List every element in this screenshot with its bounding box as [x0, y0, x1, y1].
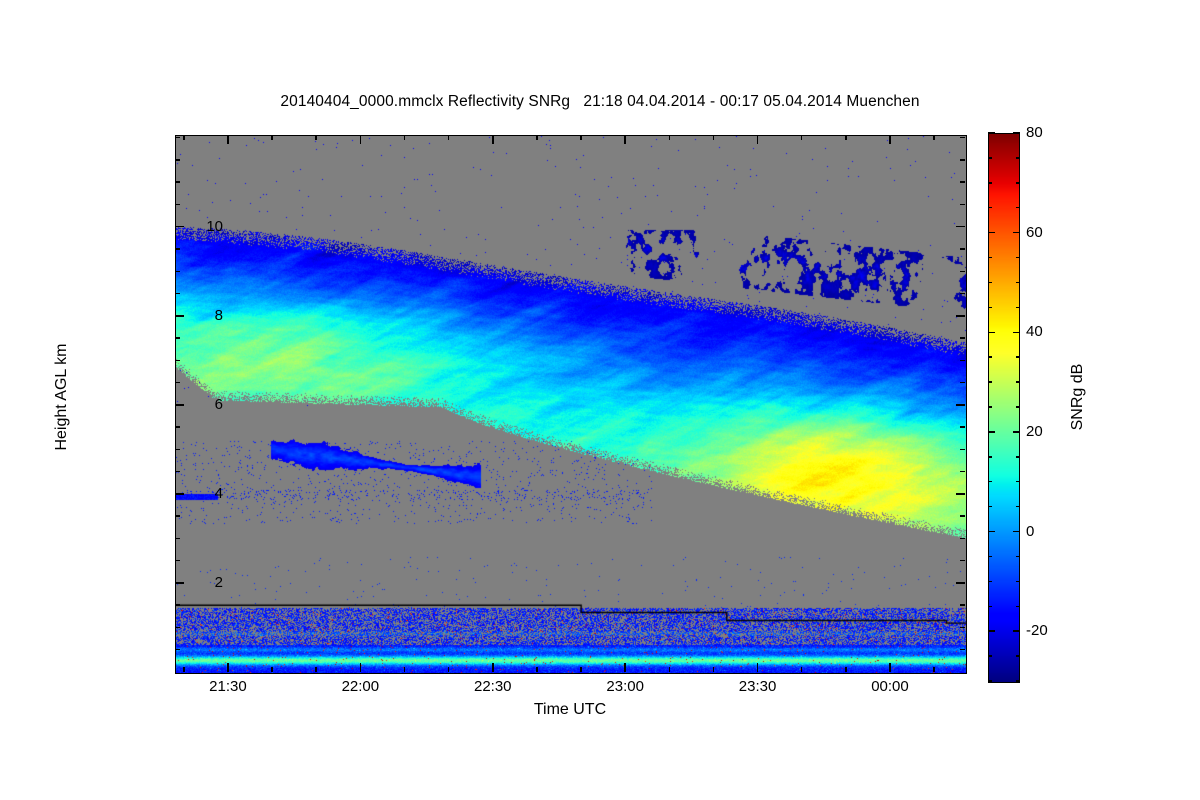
colorbar-tick-right: [1016, 381, 1020, 383]
x-tick-top: [536, 135, 538, 140]
y-tick: [175, 426, 180, 428]
x-tick-label: 00:00: [830, 679, 950, 694]
y-tick-right: [960, 248, 965, 250]
y-tick-right: [960, 360, 965, 362]
plot-axes-area: [175, 135, 967, 674]
y-tick: [175, 604, 180, 606]
x-tick-top: [183, 135, 185, 140]
x-tick: [271, 667, 273, 672]
colorbar-tick-right: [1016, 680, 1020, 682]
colorbar-tick: [988, 182, 992, 184]
y-tick: [175, 159, 180, 161]
colorbar-tick: [988, 406, 992, 408]
reflectivity-heatmap: [176, 136, 966, 673]
x-tick-top: [757, 135, 759, 144]
x-tick: [757, 663, 759, 672]
y-tick: [175, 515, 180, 517]
y-tick: [175, 649, 180, 651]
colorbar-tick-right: [1016, 456, 1020, 458]
colorbar-tick-label: 20: [1026, 424, 1043, 439]
colorbar-tick-right: [1013, 630, 1020, 632]
colorbar-tick: [988, 581, 992, 583]
y-tick-right: [956, 226, 965, 228]
y-tick-right: [960, 159, 965, 161]
y-tick-right: [960, 604, 965, 606]
y-tick-right: [960, 449, 965, 451]
y-tick-right: [960, 426, 965, 428]
x-tick-top: [360, 135, 362, 144]
colorbar-tick-right: [1013, 132, 1020, 134]
y-tick: [175, 226, 184, 228]
colorbar-tick: [988, 356, 992, 358]
colorbar-tick-right: [1016, 655, 1020, 657]
colorbar-tick: [988, 132, 995, 134]
y-tick: [175, 404, 184, 406]
colorbar-tick-right: [1016, 157, 1020, 159]
colorbar-tick-label: 40: [1026, 324, 1043, 339]
x-tick-top: [933, 135, 935, 140]
colorbar-tick-label: 80: [1026, 125, 1043, 140]
y-tick-right: [956, 582, 965, 584]
y-tick: [175, 627, 180, 629]
colorbar-tick-right: [1013, 232, 1020, 234]
colorbar-tick-right: [1016, 182, 1020, 184]
x-tick: [360, 663, 362, 672]
x-tick-top: [492, 135, 494, 144]
y-tick: [175, 204, 180, 206]
y-tick-label: 10: [206, 219, 223, 234]
x-tick-top: [315, 135, 317, 140]
y-tick-right: [956, 404, 965, 406]
colorbar-tick: [988, 332, 995, 334]
x-tick: [536, 667, 538, 672]
colorbar-tick-right: [1016, 356, 1020, 358]
x-tick-top: [404, 135, 406, 140]
colorbar-tick-right: [1016, 406, 1020, 408]
x-tick: [448, 667, 450, 672]
colorbar-tick: [988, 157, 992, 159]
x-tick-top: [801, 135, 803, 140]
y-tick-right: [960, 293, 965, 295]
colorbar-tick: [988, 282, 992, 284]
colorbar-title: SNRg dB: [1069, 297, 1087, 497]
y-tick: [175, 382, 180, 384]
colorbar-tick-right: [1016, 207, 1020, 209]
colorbar-tick: [988, 232, 995, 234]
y-tick-right: [960, 560, 965, 562]
colorbar-tick: [988, 606, 992, 608]
colorbar-tick-right: [1016, 556, 1020, 558]
colorbar-tick-label: -20: [1026, 623, 1048, 638]
y-tick: [175, 315, 184, 317]
y-tick-right: [956, 315, 965, 317]
y-tick-label: 4: [215, 486, 223, 501]
y-tick: [175, 582, 184, 584]
colorbar-tick: [988, 680, 992, 682]
x-tick-top: [845, 135, 847, 140]
x-tick-label: 23:30: [698, 679, 818, 694]
x-tick-top: [227, 135, 229, 144]
y-tick: [175, 538, 180, 540]
y-tick: [175, 137, 180, 139]
x-tick-top: [271, 135, 273, 140]
y-tick: [175, 293, 180, 295]
y-tick: [175, 560, 180, 562]
x-tick: [624, 663, 626, 672]
colorbar-tick-right: [1013, 531, 1020, 533]
y-tick-right: [960, 515, 965, 517]
x-tick-label: 22:30: [433, 679, 553, 694]
y-tick: [175, 493, 184, 495]
colorbar-tick-right: [1016, 506, 1020, 508]
x-tick: [713, 667, 715, 672]
colorbar-tick: [988, 207, 992, 209]
x-tick-label: 22:00: [300, 679, 420, 694]
page-title: 20140404_0000.mmclx Reflectivity SNRg 21…: [0, 93, 1200, 111]
colorbar-tick: [988, 506, 992, 508]
x-tick: [404, 667, 406, 672]
colorbar-tick: [988, 431, 995, 433]
y-tick-right: [960, 271, 965, 273]
x-tick: [933, 667, 935, 672]
colorbar-tick-label: 0: [1026, 524, 1034, 539]
x-tick-top: [713, 135, 715, 140]
x-tick-top: [889, 135, 891, 144]
y-tick: [175, 471, 180, 473]
colorbar-tick-right: [1016, 606, 1020, 608]
colorbar-gradient: [989, 134, 1019, 682]
colorbar-tick: [988, 257, 992, 259]
colorbar-tick: [988, 556, 992, 558]
y-tick-right: [960, 471, 965, 473]
x-tick: [580, 667, 582, 672]
x-tick: [845, 667, 847, 672]
x-tick-top: [669, 135, 671, 140]
colorbar-tick: [988, 481, 992, 483]
colorbar-tick-label: 60: [1026, 225, 1043, 240]
y-tick-right: [956, 493, 965, 495]
colorbar: [988, 133, 1020, 683]
y-tick-right: [960, 204, 965, 206]
colorbar-tick-right: [1016, 481, 1020, 483]
y-tick-label: 8: [215, 308, 223, 323]
colorbar-tick: [988, 456, 992, 458]
y-tick: [175, 248, 180, 250]
colorbar-tick-right: [1016, 282, 1020, 284]
y-tick-right: [960, 627, 965, 629]
x-tick: [801, 667, 803, 672]
y-tick-right: [960, 382, 965, 384]
radar-time-height-figure: 20140404_0000.mmclx Reflectivity SNRg 21…: [0, 0, 1200, 800]
colorbar-tick-right: [1016, 307, 1020, 309]
y-tick: [175, 337, 180, 339]
x-tick: [492, 663, 494, 672]
x-tick-top: [624, 135, 626, 144]
x-tick: [889, 663, 891, 672]
colorbar-tick-right: [1013, 332, 1020, 334]
y-tick: [175, 181, 180, 183]
x-tick: [669, 667, 671, 672]
y-tick-right: [960, 137, 965, 139]
x-tick-label: 23:00: [565, 679, 685, 694]
y-tick-right: [960, 337, 965, 339]
colorbar-tick-right: [1013, 431, 1020, 433]
y-tick: [175, 449, 180, 451]
colorbar-tick: [988, 531, 995, 533]
x-tick: [315, 667, 317, 672]
x-axis-title: Time UTC: [175, 701, 965, 719]
colorbar-tick-right: [1016, 581, 1020, 583]
y-tick-right: [960, 538, 965, 540]
colorbar-tick: [988, 381, 992, 383]
y-tick-right: [960, 181, 965, 183]
x-tick: [227, 663, 229, 672]
y-tick-label: 2: [215, 575, 223, 590]
colorbar-tick: [988, 630, 995, 632]
colorbar-tick: [988, 307, 992, 309]
y-tick-right: [960, 649, 965, 651]
x-tick-top: [580, 135, 582, 140]
colorbar-tick: [988, 655, 992, 657]
y-axis-title: Height AGL km: [53, 297, 71, 497]
x-tick-label: 21:30: [168, 679, 288, 694]
y-tick: [175, 360, 180, 362]
x-tick-top: [448, 135, 450, 140]
colorbar-tick-right: [1016, 257, 1020, 259]
y-tick-label: 6: [215, 397, 223, 412]
y-tick: [175, 271, 180, 273]
x-tick: [183, 667, 185, 672]
